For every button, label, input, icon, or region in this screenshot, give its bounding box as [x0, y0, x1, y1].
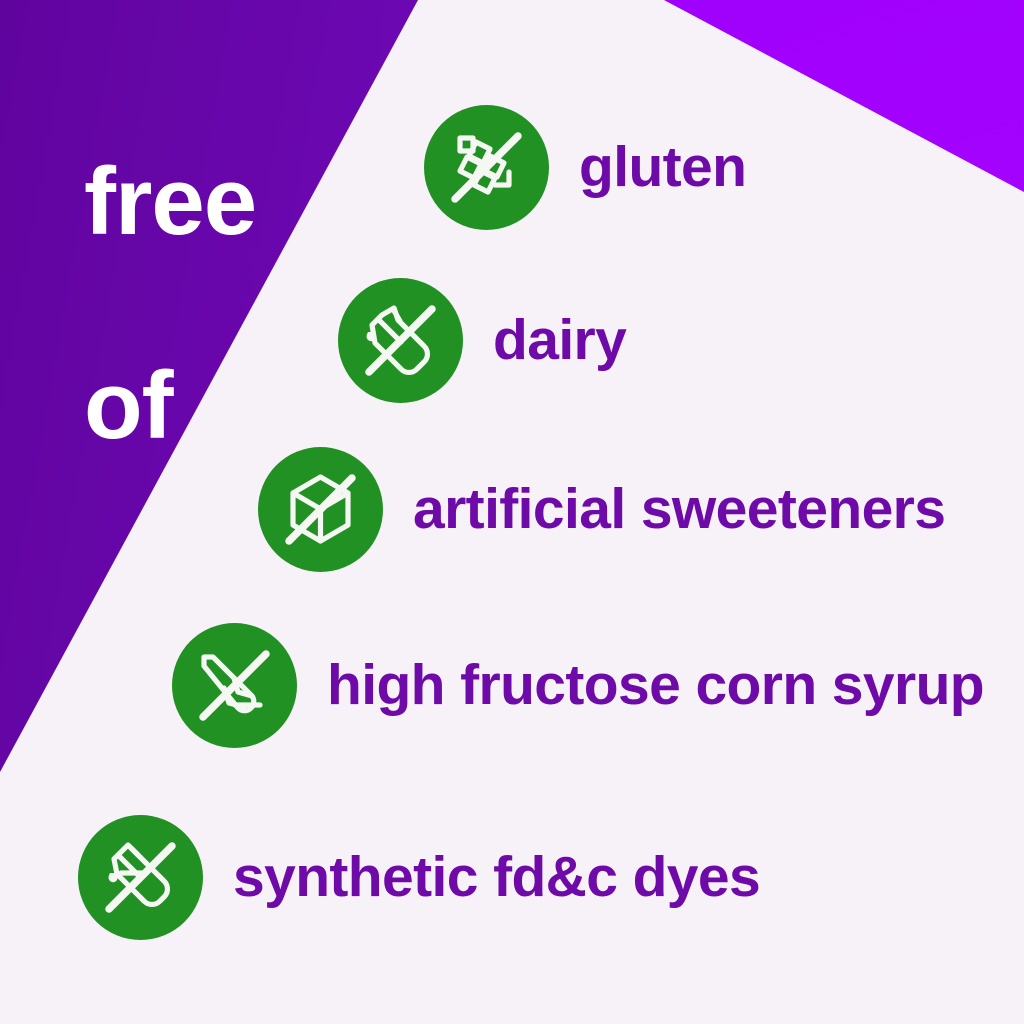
no-corn-icon — [172, 623, 297, 748]
claim-label-dairy: dairy — [493, 312, 626, 369]
claim-label-gluten: gluten — [579, 139, 746, 196]
headline-line-1: free — [84, 155, 256, 248]
no-dairy-icon — [338, 278, 463, 403]
claim-row-gluten: gluten — [424, 105, 746, 230]
badge-no-synthetic-dyes — [78, 815, 203, 940]
badge-no-gluten — [424, 105, 549, 230]
page-title: free of — [84, 62, 256, 546]
claim-row-high-fructose-corn-syrup: high fructose corn syrup — [172, 623, 984, 748]
no-sugar-cube-icon — [258, 447, 383, 572]
claim-row-artificial-sweeteners: artificial sweeteners — [258, 447, 945, 572]
claim-label-synthetic-fdc-dyes: synthetic fd&c dyes — [233, 849, 760, 906]
claim-row-synthetic-fdc-dyes: synthetic fd&c dyes — [78, 815, 760, 940]
claim-label-artificial-sweeteners: artificial sweeteners — [413, 481, 945, 538]
badge-no-dairy — [338, 278, 463, 403]
headline-line-2: of — [84, 359, 256, 452]
badge-no-artificial-sweeteners — [258, 447, 383, 572]
badge-no-corn-syrup — [172, 623, 297, 748]
no-wheat-icon — [424, 105, 549, 230]
claim-label-high-fructose-corn-syrup: high fructose corn syrup — [327, 657, 984, 714]
claim-row-dairy: dairy — [338, 278, 626, 403]
infographic-canvas: free of gluten — [0, 0, 1024, 1024]
no-test-tube-icon — [78, 815, 203, 940]
